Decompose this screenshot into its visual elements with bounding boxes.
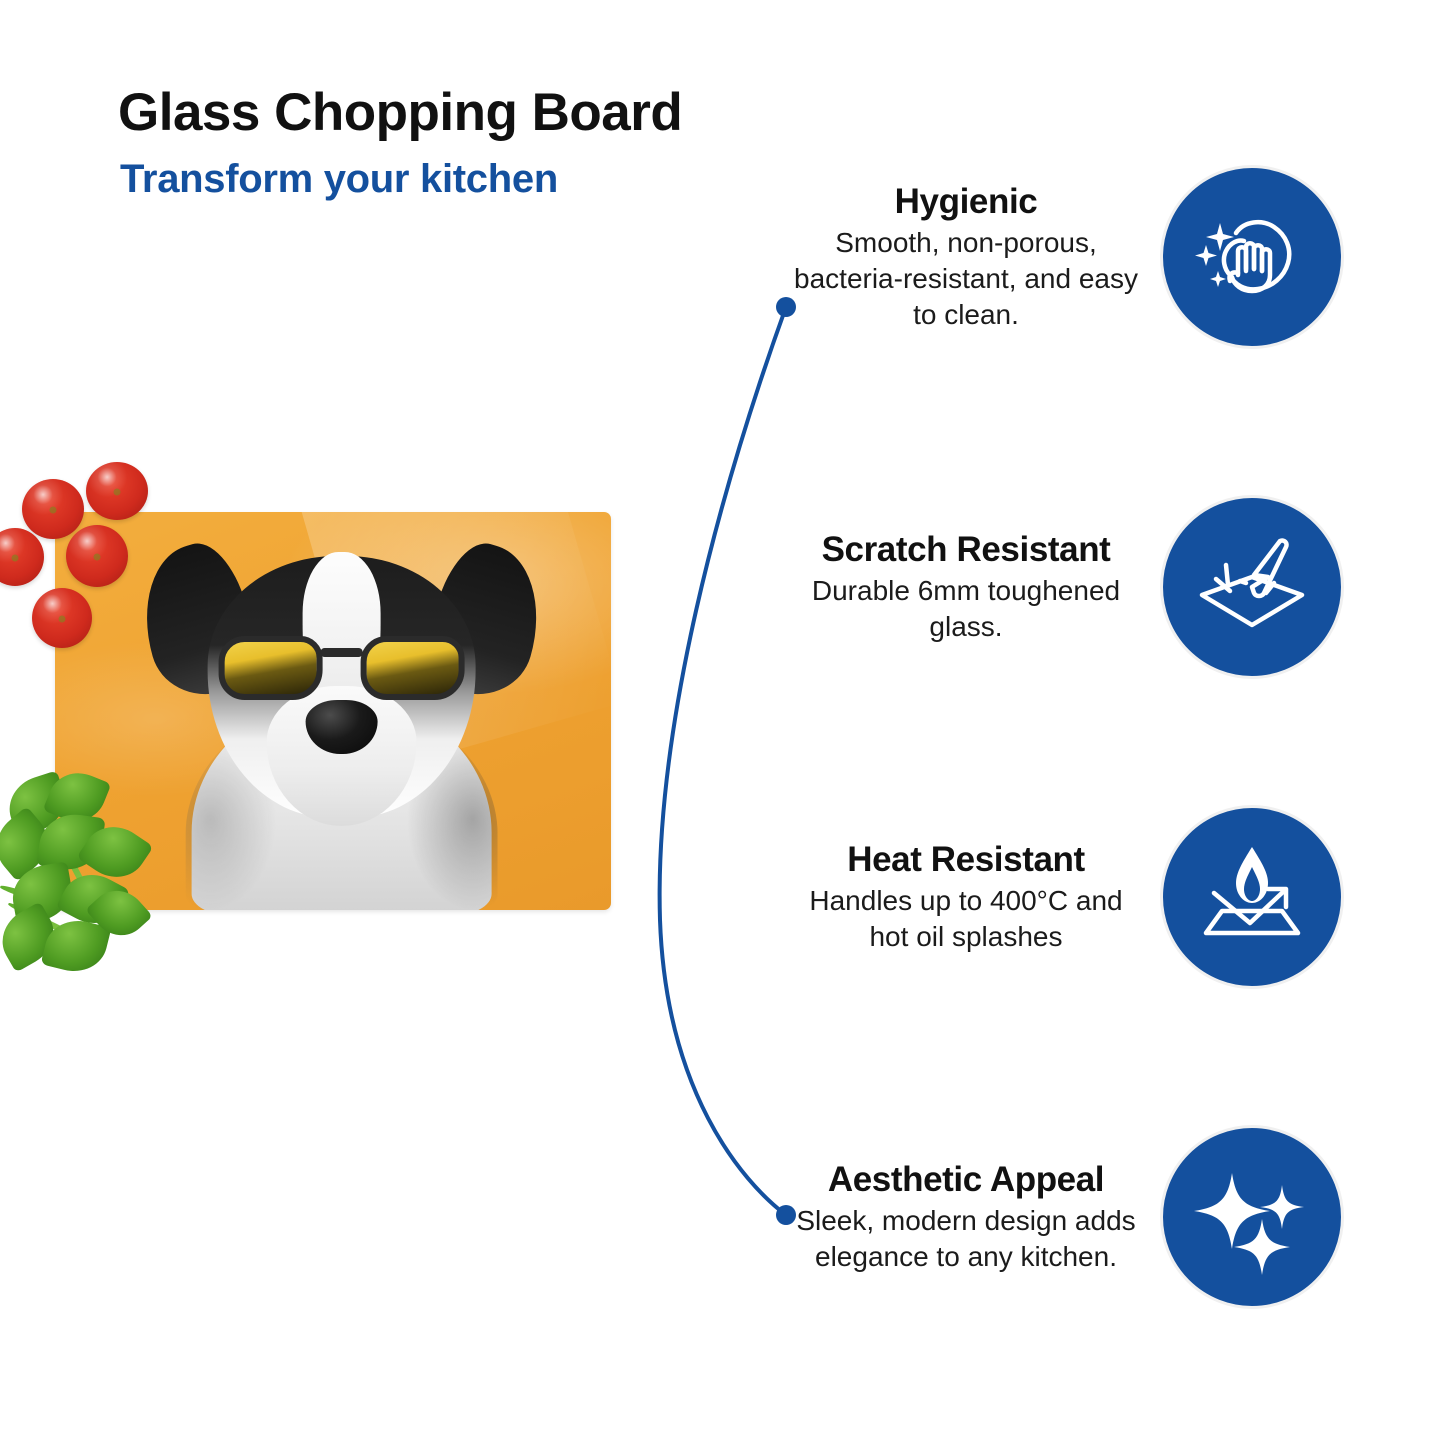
sunglass-lens-right (361, 636, 465, 700)
feature-item-scratch-resistant: Scratch Resistant Durable 6mm toughened … (790, 495, 1350, 679)
dog-sunglasses (219, 636, 465, 702)
flame-deflect-arrow-icon (1160, 805, 1344, 989)
feature-title: Hygienic (790, 182, 1142, 221)
infographic-canvas: Glass Chopping Board Transform your kitc… (0, 0, 1445, 1445)
cherry-tomato (86, 462, 148, 520)
feature-text-block: Hygienic Smooth, non-porous, bacteria-re… (790, 182, 1160, 333)
feature-text-block: Heat Resistant Handles up to 400°C and h… (790, 840, 1160, 955)
feature-title: Scratch Resistant (790, 530, 1142, 569)
page-title: Glass Chopping Board (118, 82, 682, 143)
tomato-stem (12, 555, 19, 562)
three-sparkles-icon (1160, 1125, 1344, 1309)
cherry-tomato (0, 528, 44, 586)
tomato-stem (114, 489, 121, 496)
cherry-tomato (32, 588, 92, 648)
cherry-tomato (22, 479, 84, 539)
sunglass-lens-left (219, 636, 323, 700)
feature-item-hygienic: Hygienic Smooth, non-porous, bacteria-re… (790, 165, 1350, 349)
product-image (0, 440, 640, 980)
feature-description: Handles up to 400°C and hot oil splashes (790, 883, 1142, 955)
feature-description: Sleek, modern design adds elegance to an… (790, 1203, 1142, 1275)
page-subtitle: Transform your kitchen (120, 157, 558, 202)
feature-title: Aesthetic Appeal (790, 1160, 1142, 1199)
feature-text-block: Scratch Resistant Durable 6mm toughened … (790, 530, 1160, 645)
feature-description: Durable 6mm toughened glass. (790, 573, 1142, 645)
connector-path (660, 307, 786, 1215)
tomato-stem (94, 554, 101, 561)
feature-title: Heat Resistant (790, 840, 1142, 879)
feature-description: Smooth, non-porous, bacteria-resistant, … (790, 225, 1142, 332)
hand-wipe-sparkle-icon (1160, 165, 1344, 349)
feature-text-block: Aesthetic Appeal Sleek, modern design ad… (790, 1160, 1160, 1275)
dog-illustration (127, 518, 557, 910)
tomato-stem (59, 616, 66, 623)
feature-item-aesthetic-appeal: Aesthetic Appeal Sleek, modern design ad… (790, 1125, 1350, 1309)
cherry-tomato (66, 525, 128, 587)
parsley-garnish (0, 770, 162, 976)
knife-impact-surface-icon (1160, 495, 1344, 679)
feature-item-heat-resistant: Heat Resistant Handles up to 400°C and h… (790, 805, 1350, 989)
sunglass-bridge (321, 648, 363, 657)
tomato-stem (50, 507, 57, 514)
